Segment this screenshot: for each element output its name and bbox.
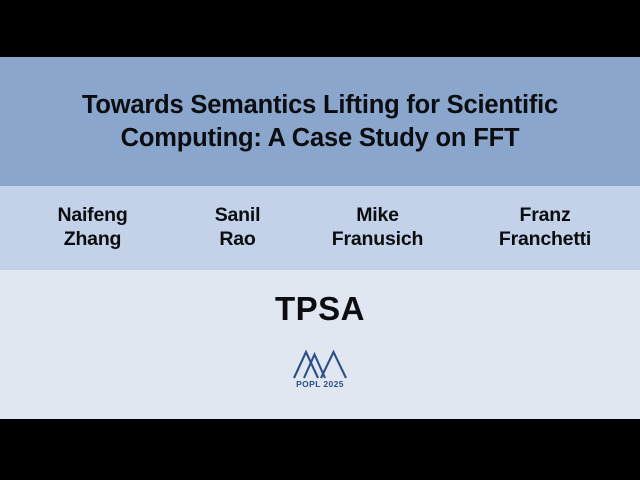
title-line-1: Towards Semantics Lifting for Scientific — [82, 91, 558, 119]
conference-logo: POPL 2025 — [291, 349, 349, 389]
author-naifeng-zhang: Naifeng Zhang — [8, 204, 178, 252]
author-sanil-rao: Sanil Rao — [178, 204, 298, 252]
authors-band: Naifeng Zhang Sanil Rao Mike Franusich F… — [0, 186, 640, 270]
logo-caption: POPL 2025 — [296, 380, 344, 389]
venue-name: TPSA — [275, 292, 365, 325]
title-band: Towards Semantics Lifting for Scientific… — [0, 57, 640, 186]
author-last-name: Franusich — [298, 228, 458, 252]
letterbox-bar-top — [0, 0, 640, 57]
content-band: TPSA POPL 2025 — [0, 270, 640, 419]
author-first-name: Mike — [298, 204, 458, 228]
presentation-slide: Towards Semantics Lifting for Scientific… — [0, 0, 640, 480]
author-last-name: Rao — [178, 228, 298, 252]
author-last-name: Franchetti — [458, 228, 633, 252]
page-title: Towards Semantics Lifting for Scientific… — [0, 89, 640, 154]
popl-mountains-icon — [291, 349, 349, 379]
letterbox-bar-bottom — [0, 419, 640, 480]
author-first-name: Franz — [458, 204, 633, 228]
author-franz-franchetti: Franz Franchetti — [458, 204, 633, 252]
author-first-name: Naifeng — [8, 204, 178, 228]
title-line-2: Computing: A Case Study on FFT — [121, 124, 520, 152]
authors-row: Naifeng Zhang Sanil Rao Mike Franusich F… — [0, 204, 640, 252]
author-last-name: Zhang — [8, 228, 178, 252]
author-first-name: Sanil — [178, 204, 298, 228]
author-mike-franusich: Mike Franusich — [298, 204, 458, 252]
